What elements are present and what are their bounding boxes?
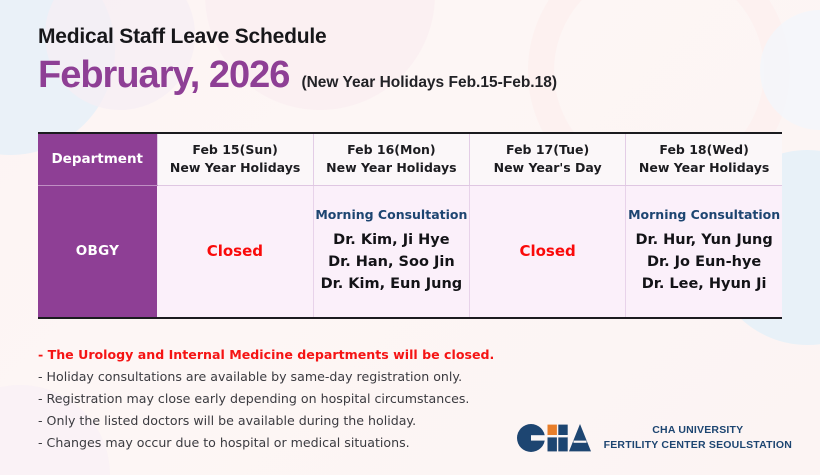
doctor-name: Dr. Hur, Yun Jung (626, 229, 782, 251)
schedule-cell-day-3: Closed (470, 185, 626, 318)
status-badge: Closed (157, 242, 313, 260)
page-title: February, 2026 (38, 56, 289, 94)
table-header: Department Feb 15(Sun) New Year Holidays… (38, 133, 782, 185)
logo-text: CHA UNIVERSITY FERTILITY CENTER SEOULSTA… (604, 423, 792, 453)
poster-canvas: Medical Staff Leave Schedule February, 2… (0, 0, 820, 475)
consultation-label: Morning Consultation (626, 207, 782, 222)
day-4-note: New Year Holidays (626, 159, 782, 178)
cha-logo-icon (517, 424, 591, 452)
day-2-note: New Year Holidays (314, 159, 469, 178)
column-header-day-2: Feb 16(Mon) New Year Holidays (313, 133, 469, 185)
table-row: OBGY Closed Morning Consultation Dr. Kim… (38, 185, 782, 318)
consultation-label: Morning Consultation (314, 207, 469, 222)
schedule-cell-day-2: Morning Consultation Dr. Kim, Ji Hye Dr.… (313, 185, 469, 318)
column-header-department: Department (38, 133, 157, 185)
status-badge: Closed (470, 242, 625, 260)
doctor-name: Dr. Kim, Eun Jung (314, 273, 469, 295)
day-1-note: New Year Holidays (158, 159, 313, 178)
day-4-date: Feb 18(Wed) (626, 141, 782, 160)
note-item-alert: - The Urology and Internal Medicine depa… (38, 344, 494, 366)
note-item: - Holiday consultations are available by… (38, 366, 494, 388)
column-header-day-3: Feb 17(Tue) New Year's Day (470, 133, 626, 185)
doctor-name: Dr. Lee, Hyun Ji (626, 273, 782, 295)
schedule-cell-day-1: Closed (157, 185, 313, 318)
hospital-logo: CHA UNIVERSITY FERTILITY CENTER SEOULSTA… (517, 423, 792, 453)
day-1-date: Feb 15(Sun) (158, 141, 313, 160)
department-name-obgy: OBGY (38, 185, 157, 318)
decorative-circle-right-top (760, 10, 820, 130)
logo-line-1: CHA UNIVERSITY (604, 423, 792, 438)
poster-header: Medical Staff Leave Schedule February, 2… (38, 26, 557, 94)
note-item: - Changes may occur due to hospital or m… (38, 432, 494, 454)
day-2-date: Feb 16(Mon) (314, 141, 469, 160)
doctor-name: Dr. Jo Eun-hye (626, 251, 782, 273)
schedule-table: Department Feb 15(Sun) New Year Holidays… (38, 132, 782, 319)
holiday-range-note: (New Year Holidays Feb.15-Feb.18) (301, 74, 557, 92)
table-body: OBGY Closed Morning Consultation Dr. Kim… (38, 185, 782, 318)
column-header-day-1: Feb 15(Sun) New Year Holidays (157, 133, 313, 185)
schedule-cell-day-4: Morning Consultation Dr. Hur, Yun Jung D… (626, 185, 782, 318)
logo-line-2: FERTILITY CENTER SEOULSTATION (604, 438, 792, 453)
day-3-note: New Year's Day (470, 159, 625, 178)
title-row: February, 2026 (New Year Holidays Feb.15… (38, 56, 557, 94)
table-header-row: Department Feb 15(Sun) New Year Holidays… (38, 133, 782, 185)
day-3-date: Feb 17(Tue) (470, 141, 625, 160)
note-item: - Only the listed doctors will be availa… (38, 410, 494, 432)
page-subtitle: Medical Staff Leave Schedule (38, 26, 557, 47)
doctor-name: Dr. Kim, Ji Hye (314, 229, 469, 251)
column-header-day-4: Feb 18(Wed) New Year Holidays (626, 133, 782, 185)
doctor-name: Dr. Han, Soo Jin (314, 251, 469, 273)
note-item: - Registration may close early depending… (38, 388, 494, 410)
notes-list: - The Urology and Internal Medicine depa… (38, 344, 494, 454)
